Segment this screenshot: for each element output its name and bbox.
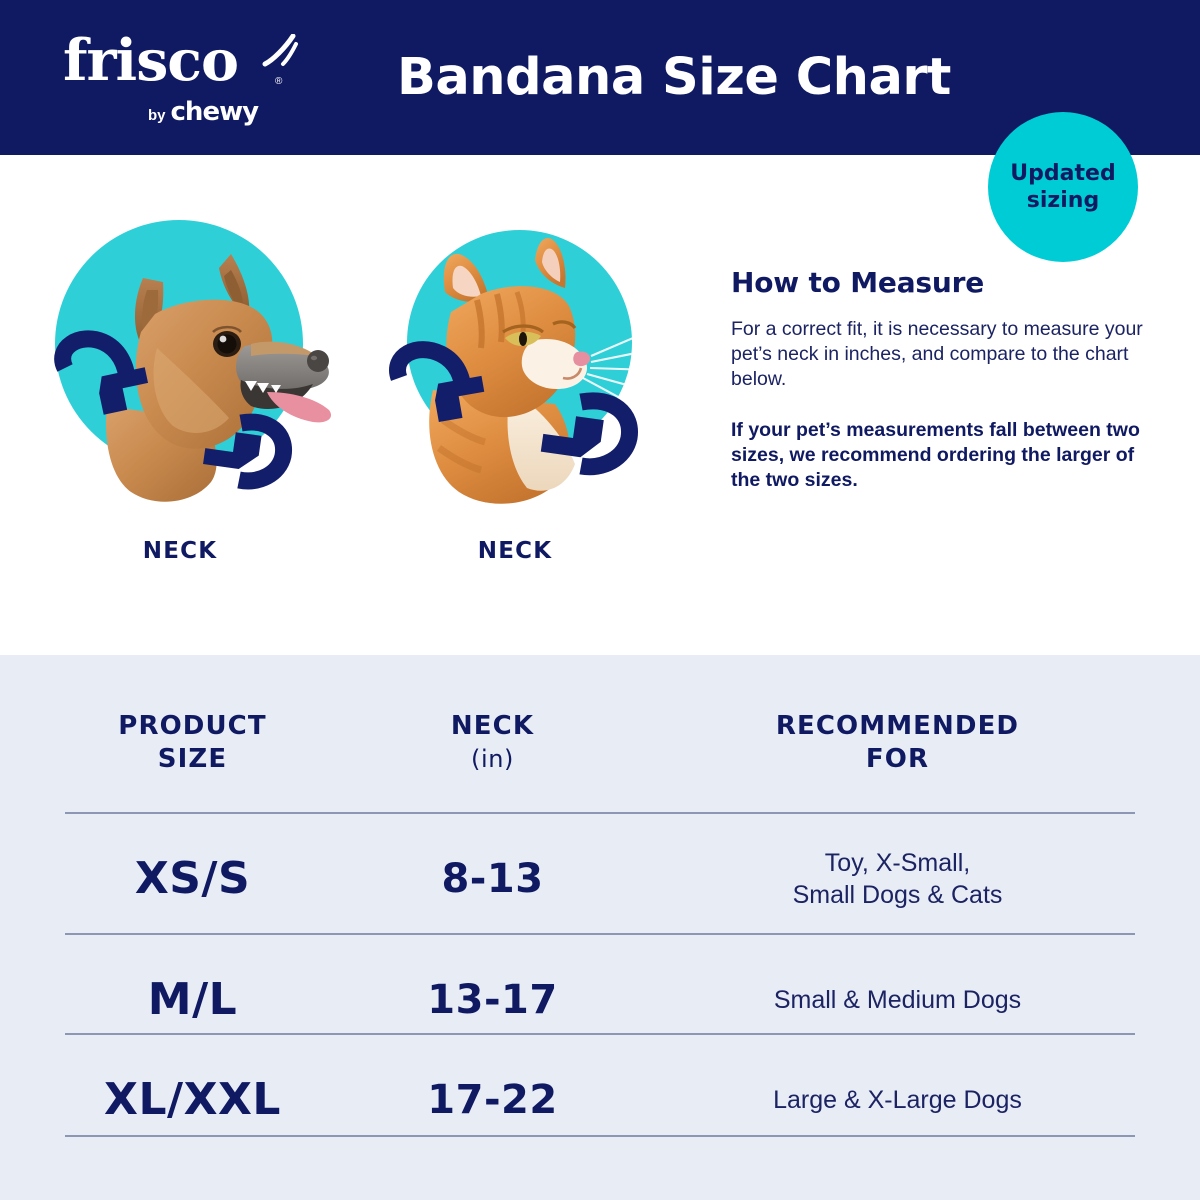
neck-measure-arrows-icon bbox=[45, 220, 345, 520]
size-chart-table: PRODUCT SIZE NECK (in) RECOMMENDED FOR X… bbox=[0, 655, 1200, 1200]
dog-figure: NECK bbox=[45, 220, 345, 590]
frisco-by-chewy-logo[interactable]: frisco ® bychewy bbox=[63, 28, 313, 132]
swish-icon bbox=[259, 34, 299, 68]
cell-neck: 17-22 bbox=[355, 1041, 630, 1159]
cell-product-size: XS/S bbox=[65, 820, 320, 938]
column-header-line1: NECK bbox=[451, 710, 534, 743]
column-header-line1: PRODUCT bbox=[118, 710, 266, 743]
badge-line-1: Updated bbox=[1010, 160, 1115, 187]
brand-wordmark: frisco bbox=[63, 28, 238, 94]
how-to-measure-body: For a correct fit, it is necessary to me… bbox=[731, 317, 1156, 392]
how-to-measure-note: If your pet’s measurements fall between … bbox=[731, 418, 1156, 493]
cat-neck-label: NECK bbox=[365, 538, 665, 564]
table-row: XS/S 8-13 Toy, X-Small, Small Dogs & Cat… bbox=[0, 820, 1200, 938]
how-to-measure-title: How to Measure bbox=[731, 266, 1156, 299]
how-to-measure-section: How to Measure For a correct fit, it is … bbox=[731, 266, 1156, 493]
cell-recommended-for: Large & X-Large Dogs bbox=[660, 1041, 1135, 1159]
cell-text-line2: Small Dogs & Cats bbox=[793, 879, 1003, 911]
size-chart-page: frisco ® bychewy Bandana Size Chart Upda… bbox=[0, 0, 1200, 1200]
column-header-product-size: PRODUCT SIZE bbox=[65, 710, 320, 776]
cell-neck: 8-13 bbox=[355, 820, 630, 938]
updated-sizing-badge: Updated sizing bbox=[988, 112, 1138, 262]
cell-text-line1: Toy, X-Small, bbox=[825, 847, 970, 879]
column-header-units: (in) bbox=[471, 743, 514, 776]
pet-illustrations: NECK bbox=[0, 160, 720, 590]
by-word: by bbox=[148, 107, 166, 124]
table-divider bbox=[65, 933, 1135, 935]
dog-neck-label: NECK bbox=[30, 538, 330, 564]
table-divider bbox=[65, 1033, 1135, 1035]
column-header-line2: SIZE bbox=[158, 743, 227, 776]
table-header-row: PRODUCT SIZE NECK (in) RECOMMENDED FOR bbox=[0, 710, 1200, 785]
by-chewy-lockup: bychewy bbox=[148, 99, 258, 129]
table-row: XL/XXL 17-22 Large & X-Large Dogs bbox=[0, 1041, 1200, 1159]
chewy-wordmark: chewy bbox=[171, 97, 259, 127]
column-header-neck: NECK (in) bbox=[355, 710, 630, 776]
table-divider bbox=[65, 812, 1135, 814]
cat-figure: NECK bbox=[385, 220, 685, 590]
page-title: Bandana Size Chart bbox=[397, 48, 951, 108]
registered-trademark: ® bbox=[275, 76, 282, 87]
badge-line-2: sizing bbox=[1027, 187, 1099, 214]
cell-product-size: XL/XXL bbox=[65, 1041, 320, 1159]
neck-measure-arrows-icon bbox=[385, 220, 685, 520]
cell-recommended-for: Toy, X-Small, Small Dogs & Cats bbox=[660, 820, 1135, 938]
table-divider bbox=[65, 1135, 1135, 1137]
column-header-line2: FOR bbox=[866, 743, 929, 776]
column-header-recommended-for: RECOMMENDED FOR bbox=[660, 710, 1135, 776]
column-header-line1: RECOMMENDED bbox=[776, 710, 1019, 743]
